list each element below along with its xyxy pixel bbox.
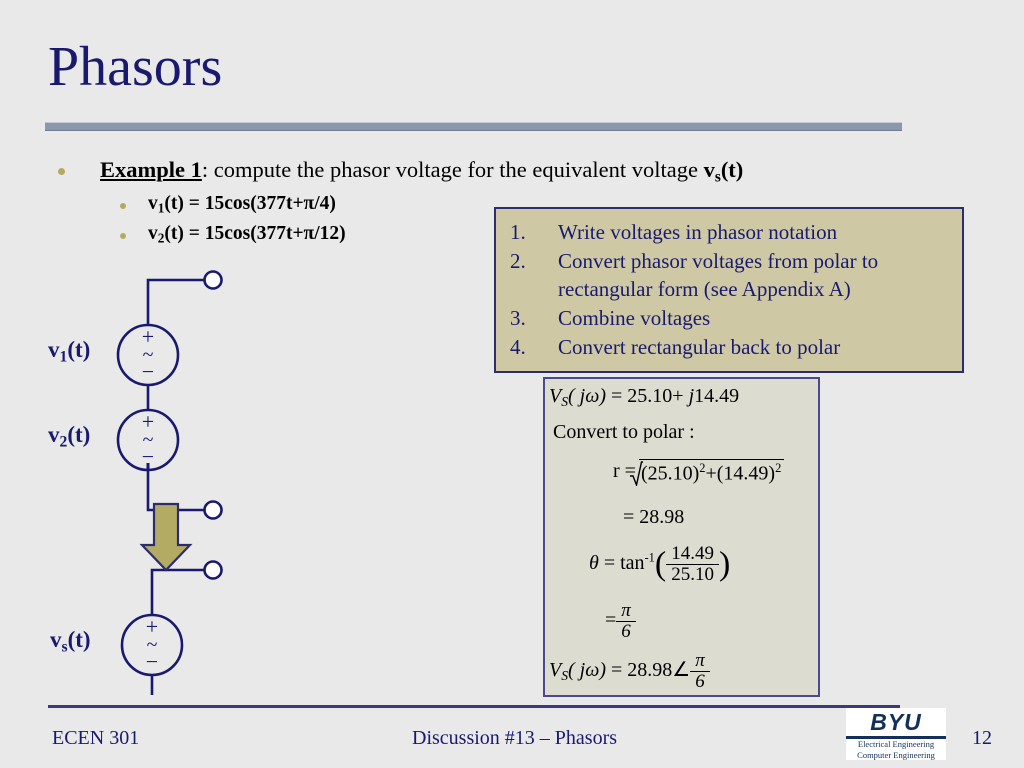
label-vs: vs(t) (50, 627, 91, 656)
footer-course: ECEN 301 (52, 727, 139, 750)
math-vs-imag: 14.49 (694, 385, 739, 407)
byu-department-line1: Electrical Engineering (846, 739, 946, 750)
math-line-theta-value: =π6 (605, 601, 636, 642)
math-vs-eq: = 25.10+ (611, 385, 684, 407)
byu-wordmark: BYU (846, 708, 946, 739)
bullet-main-emphasis: Example 1 (100, 157, 202, 182)
wire-eq-bottom (152, 675, 205, 695)
vs-polar-denominator: 6 (690, 672, 710, 692)
step-item: 2. Convert phasor voltages from polar to… (510, 248, 954, 304)
steps-list: 1. Write voltages in phasor notation 2. … (496, 209, 962, 362)
slide-canvas: Phasors Example 1: compute the phasor vo… (0, 0, 1024, 768)
sub-bullet-v1-rest: (t) = 15cos(377t+π/4) (164, 193, 336, 214)
sub-bullet-v1: v1(t) = 15cos(377t+π/4) (120, 193, 336, 217)
footer-divider (48, 705, 900, 708)
math-vs-polar-arg: ( jω) (568, 659, 606, 681)
theta-value-fraction: π6 (616, 601, 636, 642)
terminal-eq-top (205, 562, 222, 579)
math-theta-eq: = tan (604, 552, 645, 574)
wire-eq-top (152, 570, 205, 615)
theta-fraction: 14.4925.10 (666, 544, 719, 585)
sqrt-radicand: (25.10)2+(14.49)2 (639, 459, 784, 486)
math-vs-subscript: S (561, 394, 568, 409)
math-vs-polar-eq: = 28.98∠ (611, 659, 690, 681)
sqrt-icon: (25.10)2+(14.49)2 (641, 459, 784, 486)
math-vs-polar-symbol: V (549, 659, 561, 681)
step-number: 2. (510, 248, 558, 304)
label-vs-rest: (t) (68, 627, 91, 652)
step-number: 1. (510, 219, 558, 247)
label-v2-lead: v (48, 422, 60, 447)
theta-denominator: 25.10 (666, 565, 719, 585)
paren-close: ) (719, 545, 730, 582)
bullet-main-body: : compute the phasor voltage for the equ… (202, 157, 704, 182)
math-vs-symbol: V (549, 385, 561, 407)
byu-logo: BYU Electrical Engineering Computer Engi… (846, 708, 946, 760)
minus-icon: − (142, 359, 154, 384)
math-vs-polar-subscript: S (561, 668, 568, 683)
theta-value-numerator: π (616, 601, 636, 622)
bullet-main-text: Example 1: compute the phasor voltage fo… (100, 156, 743, 187)
sub-bullet-v2: v2(t) = 15cos(377t+π/12) (120, 223, 346, 247)
bullet-dot-icon (120, 203, 126, 209)
math-r-plus: + (705, 463, 716, 485)
math-theta-sup: -1 (645, 550, 655, 564)
paren-open: ( (655, 545, 666, 582)
label-v1-rest: (t) (67, 337, 90, 362)
circuit-svg: + ~ − + ~ − + ~ − (0, 255, 320, 695)
math-line-theta: θ = tan-1(14.4925.10) (589, 544, 730, 585)
terminal-bottom (205, 502, 222, 519)
step-text: Combine voltages (558, 305, 954, 333)
footer-title: Discussion #13 – Phasors (412, 727, 617, 750)
wire-top (148, 280, 205, 325)
step-number: 4. (510, 334, 558, 362)
vs-polar-numerator: π (690, 651, 710, 672)
circuit-diagram: + ~ − + ~ − + ~ − v1(t) v2(t) vs(t) (0, 255, 320, 695)
math-r-term-b: (14.49) (717, 463, 775, 485)
math-theta-symbol: θ (589, 552, 599, 574)
math-r-sup-b: 2 (775, 461, 781, 475)
minus-icon: − (146, 649, 158, 674)
page-number: 12 (972, 727, 992, 750)
polarity-glyphs: + ~ − + ~ − + ~ − (142, 324, 158, 674)
bullet-dot-icon (120, 233, 126, 239)
bullet-main-var-lead: v (704, 157, 715, 182)
math-line-vs-rect: VS( jω) = 25.10+ j14.49 (549, 385, 739, 410)
sub-bullet-v2-rest: (t) = 15cos(377t+π/12) (164, 223, 345, 244)
step-item: 1. Write voltages in phasor notation (510, 219, 954, 247)
label-v1-lead: v (48, 337, 60, 362)
theta-value-denominator: 6 (616, 622, 636, 642)
bullet-main-var: vs(t) (704, 157, 744, 182)
math-line-magnitude: r = (25.10)2+(14.49)2 (613, 459, 784, 486)
math-line-convert: Convert to polar : (553, 421, 695, 444)
math-derivation-box: VS( jω) = 25.10+ j14.49 Convert to polar… (543, 377, 820, 697)
title-divider (45, 122, 902, 131)
step-item: 3. Combine voltages (510, 305, 954, 333)
math-r-term-a: (25.10) (641, 463, 699, 485)
sub-bullet-v1-lead: v (148, 193, 158, 214)
math-theta-value-eq: = (605, 609, 616, 631)
step-item: 4. Convert rectangular back to polar (510, 334, 954, 362)
step-number: 3. (510, 305, 558, 333)
down-arrow-icon (142, 504, 190, 570)
sqrt-glyph-icon (630, 460, 643, 486)
bullet-dot-icon (58, 168, 65, 175)
math-vs-arg: ( jω) (568, 385, 606, 407)
step-text: Convert rectangular back to polar (558, 334, 954, 362)
vs-polar-angle-fraction: π6 (690, 651, 710, 692)
label-vs-lead: v (50, 627, 62, 652)
bullet-main: Example 1: compute the phasor voltage fo… (58, 156, 888, 187)
minus-icon: − (142, 444, 154, 469)
label-v2-rest: (t) (67, 422, 90, 447)
byu-department-line2: Computer Engineering (846, 750, 946, 761)
sub-bullet-v2-text: v2(t) = 15cos(377t+π/12) (148, 223, 346, 247)
terminal-top (205, 272, 222, 289)
steps-box: 1. Write voltages in phasor notation 2. … (494, 207, 964, 373)
math-line-magnitude-value: = 28.98 (623, 506, 684, 529)
byu-wordmark-text: BYU (870, 709, 922, 735)
label-v1: v1(t) (48, 337, 90, 366)
theta-numerator: 14.49 (666, 544, 719, 565)
step-text: Convert phasor voltages from polar to re… (558, 248, 954, 304)
math-line-vs-polar: VS( jω) = 28.98∠π6 (549, 651, 710, 692)
sub-bullet-v2-lead: v (148, 223, 158, 244)
page-title: Phasors (48, 38, 222, 97)
sub-bullet-v1-text: v1(t) = 15cos(377t+π/4) (148, 193, 336, 217)
label-v2: v2(t) (48, 422, 90, 451)
step-text: Write voltages in phasor notation (558, 219, 954, 247)
bullet-main-var-tail: (t) (721, 157, 743, 182)
